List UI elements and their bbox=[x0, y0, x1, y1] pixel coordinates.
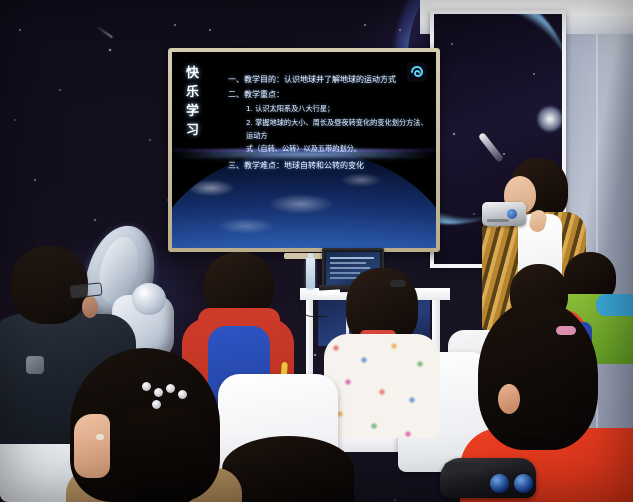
vr-lens-icon bbox=[514, 474, 533, 493]
slide-subline-1: 1. 认识太阳系及八大行星； bbox=[246, 102, 428, 116]
wall-display[interactable]: 快 乐 学 习 一、教学目的：认识地球并了解地球的运动方式 二、教学重点： 1.… bbox=[168, 48, 440, 252]
woman-ponytail bbox=[118, 408, 210, 502]
woman-hand bbox=[74, 414, 110, 478]
slide-body: 一、教学目的：认识地球并了解地球的运动方式 二、教学重点： 1. 认识太阳系及八… bbox=[172, 52, 436, 173]
device-label-strip bbox=[487, 219, 509, 222]
eyeglasses-icon bbox=[69, 282, 102, 298]
slide-line-purpose: 一、教学目的：认识地球并了解地球的运动方式 bbox=[228, 72, 428, 87]
slide-line-keypoints: 二、教学重点： bbox=[228, 87, 428, 102]
vr-strap bbox=[444, 462, 484, 472]
pearl-clip-bead bbox=[152, 400, 161, 409]
pearl-clip-bead bbox=[166, 384, 175, 393]
spiral-swirl-logo-icon bbox=[407, 62, 427, 82]
pearl-clip-bead bbox=[142, 382, 151, 391]
handheld-projector-device[interactable] bbox=[482, 202, 526, 226]
display-panel: 快 乐 学 习 一、教学目的：认识地球并了解地球的运动方式 二、教学重点： 1.… bbox=[172, 52, 436, 248]
woman-foreground bbox=[40, 348, 250, 502]
girl-shirt bbox=[324, 334, 440, 438]
hair-clip bbox=[390, 280, 406, 287]
poster-sun-flare bbox=[537, 106, 563, 132]
girl-ear bbox=[498, 384, 520, 414]
water-bottle bbox=[306, 258, 315, 290]
vr-headset[interactable] bbox=[440, 458, 536, 502]
hair-tie bbox=[556, 326, 576, 335]
girl-hair bbox=[478, 300, 598, 450]
man-ear bbox=[82, 296, 98, 318]
vr-lens-icon bbox=[490, 474, 509, 493]
girl-patterned-shirt bbox=[330, 268, 440, 448]
slide-subline-3: 式（自转、公转）以及五带的划分。 bbox=[246, 142, 428, 155]
pearl-clip-bead bbox=[178, 390, 187, 399]
device-lens-icon bbox=[507, 209, 517, 219]
ring-icon bbox=[96, 434, 104, 440]
pearl-clip-bead bbox=[154, 388, 163, 397]
screenshot-root: 快 乐 学 习 一、教学目的：认识地球并了解地球的运动方式 二、教学重点： 1.… bbox=[0, 0, 633, 502]
slide-line-difficulty: 三、教学难点：地球自转和公转的变化 bbox=[228, 158, 428, 173]
slide-subline-2: 2. 掌握地球的大小、周长及昼夜转变化的变化划分方法、运动方 bbox=[246, 116, 428, 142]
presentation-slide: 快 乐 学 习 一、教学目的：认识地球并了解地球的运动方式 二、教学重点： 1.… bbox=[172, 52, 436, 248]
